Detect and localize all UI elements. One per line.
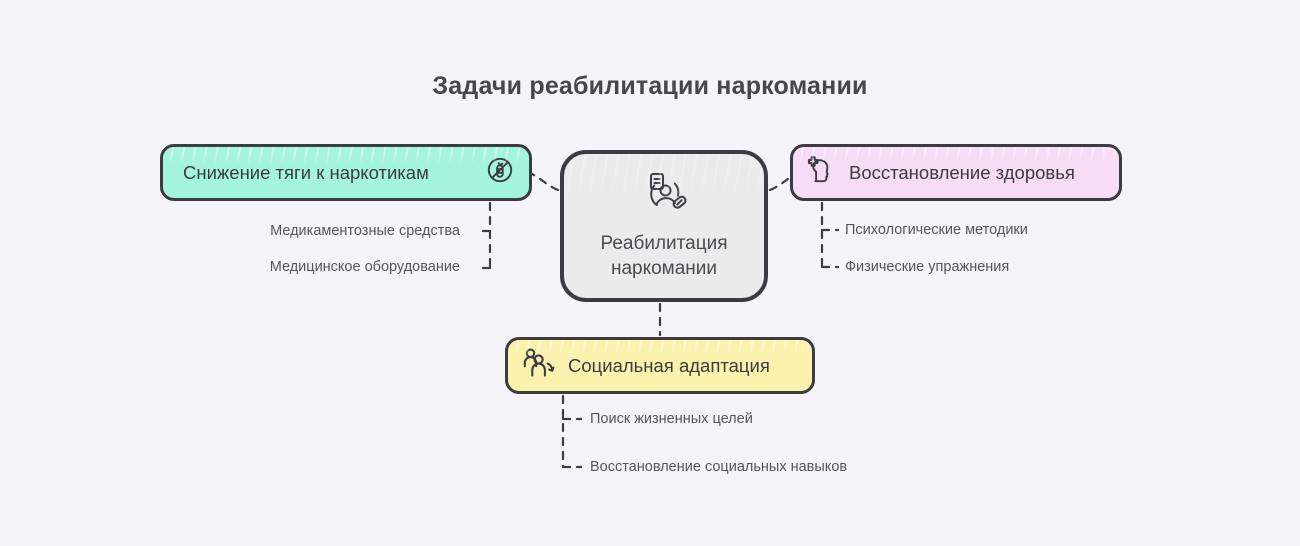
node-branch-bottom[interactable]: Социальная адаптация (505, 337, 815, 394)
node-center-label: Реабилитация наркомании (574, 232, 754, 281)
node-branch-left-label: Снижение тяги к наркотикам (183, 162, 429, 184)
leaf-left-2: Медицинское оборудование (160, 259, 460, 275)
leaf-right-2: Физические упражнения (845, 259, 1009, 275)
node-branch-bottom-label: Социальная адаптация (568, 355, 770, 377)
node-branch-right[interactable]: Восстановление здоровья (790, 144, 1122, 201)
people-group-arrow-icon (520, 347, 558, 384)
diagram-canvas: Задачи реабилитации наркомании (0, 0, 1300, 546)
node-center[interactable]: Реабилитация наркомании (560, 150, 768, 302)
head-health-plus-icon (805, 154, 837, 191)
leaf-bottom-1: Поиск жизненных целей (590, 411, 753, 427)
node-branch-right-label: Восстановление здоровья (849, 162, 1075, 184)
connector-center-to-left (532, 174, 558, 190)
page-title: Задачи реабилитации наркомании (0, 72, 1300, 101)
leaf-right-1: Психологические методики (845, 222, 1028, 238)
no-drugs-icon (485, 155, 515, 190)
node-branch-left[interactable]: Снижение тяги к наркотикам (160, 144, 532, 201)
patient-record-pill-icon (641, 171, 687, 218)
leaf-left-1: Медикаментозные средства (160, 223, 460, 239)
leaf-bottom-2: Восстановление социальных навыков (590, 459, 847, 475)
